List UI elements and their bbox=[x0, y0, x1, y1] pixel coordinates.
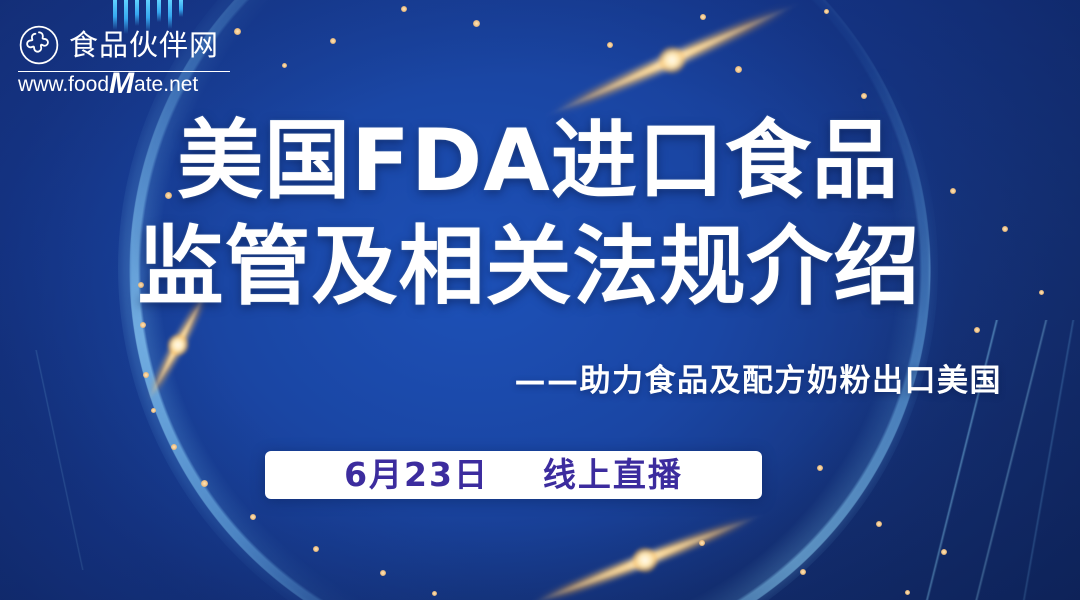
star-dot-17 bbox=[171, 444, 177, 450]
flower-circle-icon bbox=[18, 24, 60, 66]
star-dot-2 bbox=[282, 63, 287, 68]
logo-url-suffix: ate.net bbox=[134, 73, 198, 96]
headline-block: 美国FDA进口食品 监管及相关法规介绍 bbox=[0, 104, 1080, 325]
star-dot-18 bbox=[201, 480, 208, 487]
star-dot-6 bbox=[607, 42, 613, 48]
star-dot-4 bbox=[401, 6, 407, 12]
webinar-banner: 食品伙伴网 www.foodMate.net 美国FDA进口食品 监管及相关法规… bbox=[0, 0, 1080, 600]
schedule-badge-text: 6月23日 线上直播 bbox=[344, 458, 683, 491]
star-dot-22 bbox=[432, 591, 437, 596]
site-logo[interactable]: 食品伙伴网 www.foodMate.net bbox=[18, 24, 230, 95]
star-dot-24 bbox=[800, 569, 806, 575]
title-line-2: 监管及相关法规介绍 bbox=[0, 210, 1080, 324]
star-dot-25 bbox=[817, 465, 823, 471]
star-dot-19 bbox=[250, 514, 256, 520]
star-dot-28 bbox=[941, 549, 947, 555]
title-line-1: 美国FDA进口食品 bbox=[0, 104, 1080, 218]
star-dot-23 bbox=[699, 540, 705, 546]
star-dot-21 bbox=[380, 570, 386, 576]
star-dot-1 bbox=[234, 28, 241, 35]
star-dot-7 bbox=[700, 14, 706, 20]
schedule-badge[interactable]: 6月23日 线上直播 bbox=[265, 451, 762, 499]
vertical-bar-3 bbox=[135, 0, 139, 26]
vertical-bar-5 bbox=[157, 0, 161, 22]
star-dot-32 bbox=[974, 327, 980, 333]
star-dot-27 bbox=[905, 590, 910, 595]
vertical-bar-7 bbox=[179, 0, 183, 17]
star-dot-20 bbox=[313, 546, 319, 552]
star-dot-9 bbox=[824, 9, 829, 14]
logo-url-prefix: www.food bbox=[18, 73, 109, 96]
subtitle: ——助力食品及配方奶粉出口美国 bbox=[515, 366, 1003, 397]
logo-brand-cn: 食品伙伴网 bbox=[69, 31, 219, 60]
star-dot-5 bbox=[473, 20, 480, 27]
star-dot-10 bbox=[861, 93, 867, 99]
logo-top-row: 食品伙伴网 bbox=[18, 24, 230, 66]
star-dot-26 bbox=[876, 521, 882, 527]
star-dot-3 bbox=[330, 38, 336, 44]
star-dot-16 bbox=[151, 408, 156, 413]
star-dot-8 bbox=[735, 66, 742, 73]
logo-url-m: M bbox=[109, 67, 134, 100]
logo-brand-url: www.foodMate.net bbox=[18, 74, 230, 95]
star-dot-15 bbox=[143, 372, 149, 378]
